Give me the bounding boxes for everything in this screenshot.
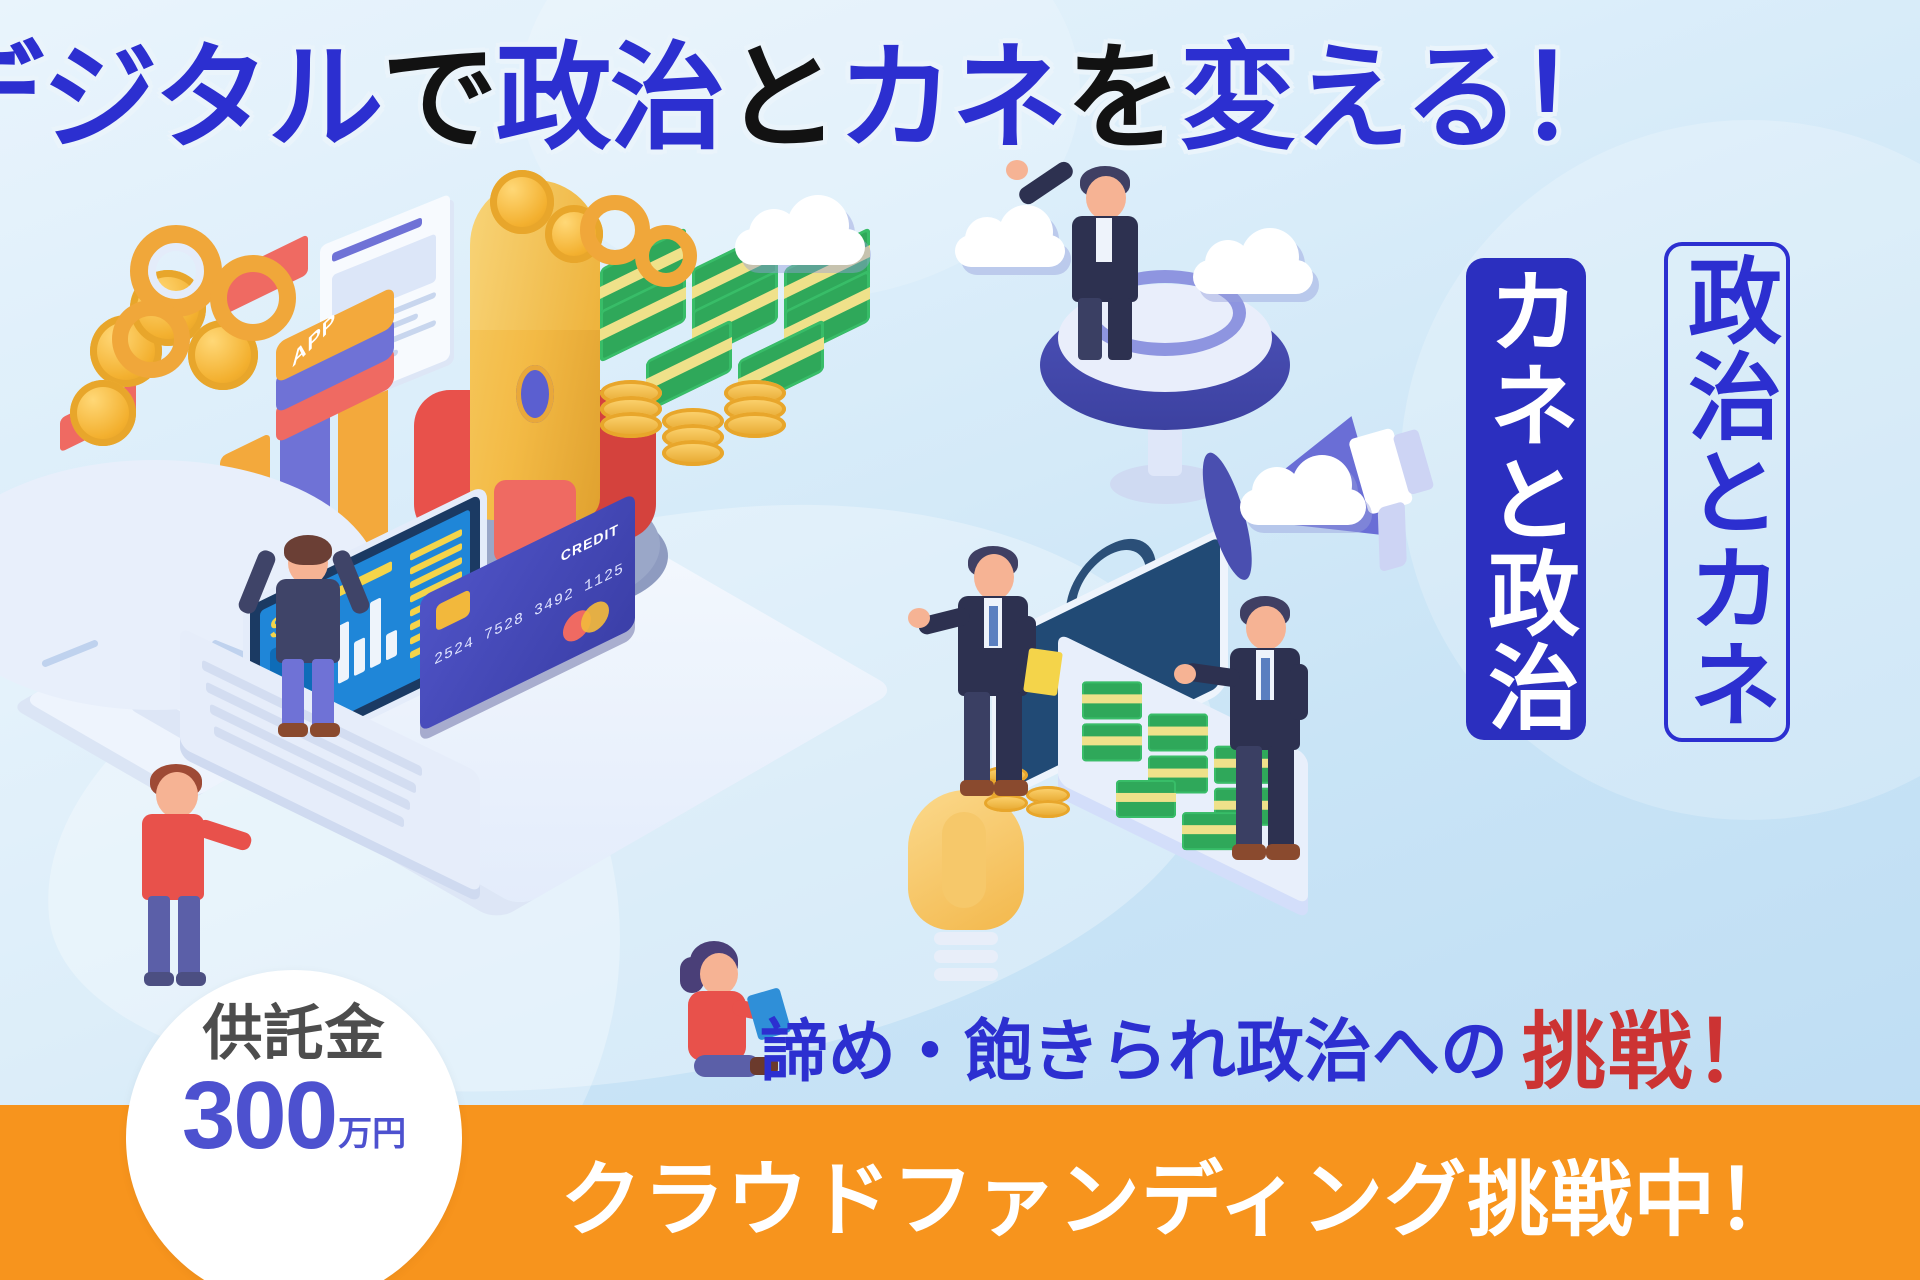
cloud-icon (955, 205, 1065, 267)
page-title-segment-1: で (382, 4, 496, 172)
card-logo-circle (581, 596, 609, 638)
page-title-segment-0: デジタル (0, 4, 382, 172)
cloud-icon (1193, 228, 1313, 294)
coin-icon (490, 170, 554, 234)
cloud-icon (735, 195, 865, 265)
page-title-segment-5: を (1066, 4, 1180, 172)
deposit-amount-row: 300 万円 (182, 1070, 406, 1161)
tagline-accent: 挑戦！ (1522, 985, 1780, 1106)
card-brand-label: CREDIT (561, 520, 619, 564)
coin-icon (70, 380, 136, 446)
vertical-badge-kane-to-seiji: カネと政治 (1466, 258, 1586, 740)
page-title-segment-4: カネ (838, 4, 1066, 172)
cloud-icon (1240, 455, 1366, 525)
page-title: デジタルで政治とカネを変える！ (0, 18, 1560, 158)
coin-stack (662, 408, 724, 486)
vertical-badge-seiji-to-kane: 政治とカネ (1664, 242, 1790, 742)
page-title-segment-6: 変える！ (1180, 4, 1633, 172)
page-title-segment-3: と (724, 4, 838, 172)
coin-stack (600, 380, 662, 458)
poster-canvas: APP (0, 0, 1920, 1280)
tagline: 諦め・飽きられ政治への 挑戦！ (760, 990, 1890, 1100)
person-at-laptop (120, 770, 240, 990)
tagline-lead: 諦め・飽きられ政治への (760, 996, 1508, 1095)
rocket-window (516, 365, 554, 423)
person-businessman-pointing (930, 550, 1070, 810)
gear-icon (635, 225, 697, 287)
card-chip-icon (436, 589, 470, 632)
gear-icon (112, 300, 190, 378)
app-cards-stack: APP (276, 315, 406, 435)
deposit-unit: 万円 (338, 1117, 406, 1151)
page-title-segment-2: 政治 (496, 4, 724, 172)
gear-icon (210, 255, 296, 341)
deposit-label: 供託金 (203, 1004, 386, 1064)
bottom-banner-text: クラウドファンディング挑戦中！ (560, 1105, 1890, 1280)
deposit-amount: 300 (182, 1070, 336, 1161)
person-cheering (250, 535, 370, 735)
coin-stack (724, 380, 786, 458)
person-taking-money (1200, 600, 1340, 890)
